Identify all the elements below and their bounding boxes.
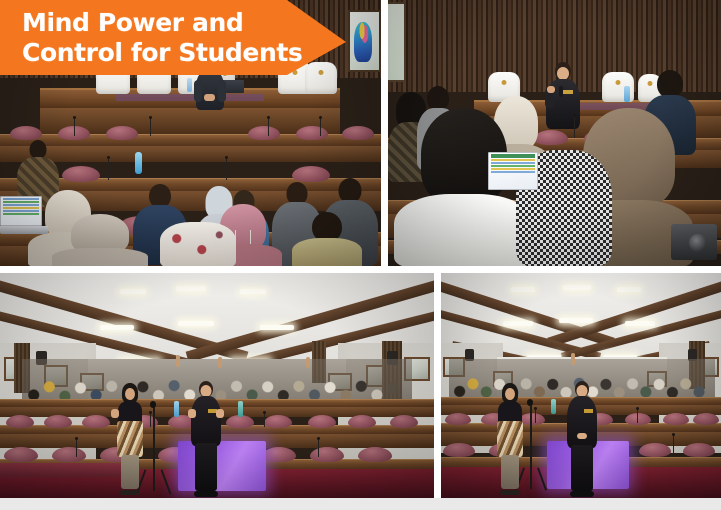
seat (62, 166, 100, 182)
title-banner-arrow: Mind Power and Control for Students (0, 0, 346, 75)
page-bottom-strip (0, 498, 721, 510)
desk-microphone (535, 409, 536, 423)
white-jacket (394, 194, 534, 266)
desk-microphone (318, 439, 319, 457)
attendee-laptop-base (0, 226, 48, 234)
tablet-ui-row (491, 154, 535, 158)
microphone-head (150, 401, 156, 408)
raised-hand (571, 353, 575, 365)
seat (44, 415, 72, 428)
shoes (120, 490, 140, 495)
microphone-head (527, 399, 533, 406)
desk-microphone (637, 409, 638, 423)
ceiling-light (120, 289, 146, 294)
attendee-laptop-screen (0, 196, 42, 226)
legs (571, 445, 593, 491)
desk-microphone (268, 118, 269, 136)
torso-black-shirt (191, 396, 221, 446)
presenter-man-black-shirt (188, 381, 224, 497)
photo-collage: Mind Power and Control for Students (0, 0, 721, 510)
seat (310, 447, 344, 462)
speaker-arm-right (218, 80, 226, 102)
laptop-ui-row (3, 204, 39, 206)
tablet-ui-row (491, 168, 535, 170)
collage-gutter-vertical-top (381, 0, 388, 266)
laptop-ui-row (3, 210, 39, 212)
desk-microphone (264, 413, 265, 427)
lecture-hall-group-photo-narrow (441, 273, 721, 498)
batik-skirt (497, 421, 523, 457)
seat (4, 447, 38, 462)
photo-bottom-right (441, 273, 721, 498)
laptop-ui-row (3, 207, 39, 209)
collage-gutter-vertical-bottom (434, 273, 441, 498)
laptop-ui-row (3, 213, 39, 215)
tablet-ui-row (491, 165, 535, 167)
chair-white-5 (305, 62, 337, 94)
face (125, 388, 135, 400)
ceiling-light (559, 318, 593, 323)
audience-member-foreground (160, 222, 236, 266)
seat (248, 126, 280, 140)
desk-microphone (108, 158, 109, 180)
projector-screen-left (388, 2, 406, 82)
desk-microphone (150, 413, 151, 427)
tablet-ui-row (491, 171, 535, 173)
speaker-arm-left (194, 80, 202, 102)
desk-microphone (320, 118, 321, 136)
water-bottle (174, 401, 179, 417)
hands-clasped (577, 433, 587, 439)
laptop-ui-row (3, 198, 39, 200)
face (505, 388, 515, 400)
speaker-hands (204, 94, 215, 101)
photo-top-right (388, 0, 721, 266)
legs (121, 455, 139, 489)
lecture-hall-scene-speaker-with-mic (388, 0, 721, 266)
ceiling-light (511, 287, 535, 292)
head-table-purple-trim (116, 94, 264, 101)
raised-hand (176, 355, 180, 367)
tablet-ui-row (491, 162, 535, 164)
raised-hand-gesture (111, 409, 119, 418)
torso (52, 248, 148, 266)
ceiling-light (178, 321, 214, 326)
tablet-ui-row (491, 159, 535, 161)
microphone-stand-pole (530, 403, 532, 489)
seat (663, 413, 689, 425)
shirt-logo (584, 409, 593, 413)
seat (6, 415, 34, 428)
seat (308, 415, 336, 428)
legs (195, 443, 217, 491)
seat (264, 415, 292, 428)
head (657, 70, 683, 98)
seat (693, 413, 719, 425)
desk-microphone (74, 118, 75, 136)
ceiling-light (240, 289, 266, 294)
water-bottle (551, 399, 556, 414)
camera-lens (689, 234, 707, 252)
raised-hand (218, 357, 222, 368)
shoes (570, 491, 594, 497)
desk-microphone (673, 435, 674, 453)
projected-colorful-image (354, 22, 372, 62)
laptop-ui-row (3, 201, 39, 203)
seat (342, 126, 374, 140)
seat (10, 126, 42, 140)
raised-hand (306, 357, 310, 368)
audience-member-foreground (52, 214, 148, 266)
torso-floral (160, 222, 236, 266)
desk-microphone (150, 118, 151, 136)
seat (445, 413, 471, 425)
banner-title-line-2: Control for Students (22, 38, 346, 68)
thumbs-up-right (216, 409, 224, 418)
shoes (194, 491, 218, 497)
batik-skirt (117, 421, 143, 457)
seat (443, 443, 475, 457)
ceiling-light (503, 321, 533, 326)
water-bottle (238, 401, 243, 417)
ceiling-light (563, 285, 591, 290)
ceiling-light (617, 287, 641, 292)
seat (625, 413, 651, 425)
seat (52, 447, 86, 462)
banner-title-line-1: Mind Power and (22, 8, 346, 38)
ceiling-light (260, 325, 294, 330)
photo-bottom-left (0, 273, 434, 498)
presenter-man-black-shirt (565, 381, 599, 497)
torso (292, 238, 362, 266)
seat (296, 126, 328, 140)
microphone-stand-pole (153, 405, 155, 491)
name-tag (563, 90, 573, 94)
ceiling-light (176, 286, 206, 291)
speaker-hand (547, 86, 555, 93)
seat (683, 443, 715, 457)
shoes (500, 490, 520, 495)
seat (82, 415, 110, 428)
water-bottle-head-table (624, 86, 630, 102)
desk-microphone (76, 439, 77, 457)
seat (348, 415, 376, 428)
seat (106, 126, 138, 140)
audience-member-foreground (292, 212, 362, 266)
ceiling-light (100, 325, 134, 330)
collage-gutter-horizontal (0, 266, 721, 273)
attendee-tablet-screen (488, 152, 538, 190)
seat (262, 447, 296, 462)
presenter-woman-hijab (113, 383, 147, 495)
seat (390, 415, 418, 428)
seat (358, 447, 392, 462)
lecture-hall-wide-group-photo (0, 273, 434, 498)
desk-microphone (226, 158, 227, 180)
water-bottle-desk (135, 152, 142, 174)
ceiling-light (625, 321, 655, 326)
torso-black-shirt (567, 396, 597, 448)
legs (501, 455, 519, 489)
thumbs-up-left (188, 409, 196, 418)
presenter-woman-hijab (493, 383, 527, 495)
seat (639, 443, 671, 457)
